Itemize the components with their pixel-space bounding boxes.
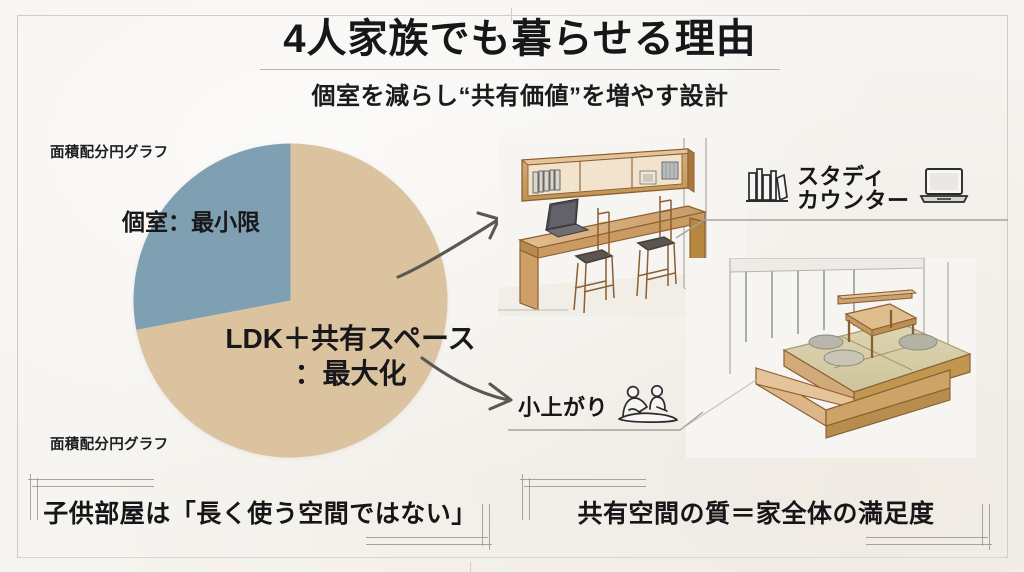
area-allocation-pie-chart — [133, 143, 448, 458]
books-icon — [746, 163, 788, 214]
study-counter-tag-line2: カウンター — [797, 189, 910, 212]
caption-right: 共有空間の質＝家全体の満足度 — [516, 474, 996, 550]
koagari-underline — [508, 412, 703, 432]
study-counter-tag-line1: スタディ — [797, 165, 910, 188]
caption-left: 子供部屋は「長く使う空間ではない」 — [24, 474, 496, 550]
title-divider — [260, 69, 780, 70]
study-counter-underline — [676, 218, 1008, 240]
pie-slice-private — [133, 144, 290, 330]
page-subtitle: 個室を減らし“共有価値”を増やす設計 — [150, 76, 890, 111]
study-counter-tag: スタディ カウンター — [746, 163, 969, 214]
curved-arrow-icon-to-koagari — [418, 352, 522, 414]
infographic-slide: 4人家族でも暮らせる理由 個室を減らし“共有価値”を増やす設計 面積配分円グラフ… — [0, 0, 1024, 572]
study-counter-tag-label: スタディ カウンター — [797, 165, 910, 212]
koagari-tatami-illustration — [686, 258, 976, 458]
page-title: 4人家族でも暮らせる理由 — [150, 16, 890, 62]
curved-arrow-icon-to-study — [392, 205, 512, 285]
caption-left-text: 子供部屋は「長く使う空間ではない」 — [24, 494, 496, 530]
pie-label-private: 個室：最小限 — [122, 208, 260, 237]
laptop-icon — [919, 165, 969, 212]
caption-right-text: 共有空間の質＝家全体の満足度 — [516, 494, 996, 530]
bottom-baseline-rule — [20, 557, 1004, 558]
slide-header: 4人家族でも暮らせる理由 個室を減らし“共有価値”を増やす設計 — [150, 16, 890, 111]
bottom-tick-mark — [470, 562, 471, 572]
